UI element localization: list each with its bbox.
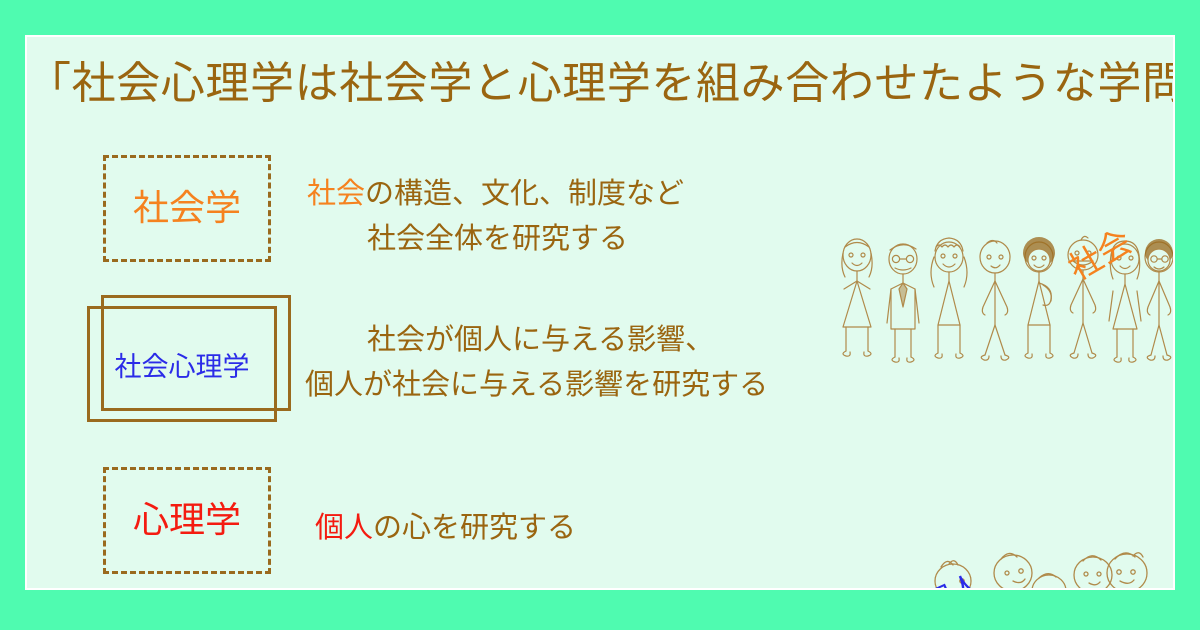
row-social-psychology: 社会心理学 社会が個人に与える影響、 個人が社会に与える影響を研究する [27, 295, 1173, 445]
description-psychology-highlight: 個人 [315, 510, 373, 544]
row-sociology: 社会学 社会の構造、文化、制度など 社会全体を研究する [27, 145, 1173, 295]
infographic-canvas: 「社会心理学は社会学と心理学を組み合わせたような学問」 社会学 社会の構造、文化… [0, 0, 1200, 630]
label-box-sociology: 社会学 [103, 155, 271, 262]
description-sociology-highlight: 社会 [307, 176, 365, 210]
label-social-psychology: 社会心理学 [90, 309, 274, 419]
description-sociology-line-1: 社会の構造、文化、制度など [307, 176, 684, 210]
description-sociology-line-2: 社会全体を研究する [307, 216, 684, 261]
description-sociology: 社会の構造、文化、制度など 社会全体を研究する [307, 171, 684, 261]
label-sociology: 社会学 [133, 191, 241, 227]
label-psychology: 心理学 [133, 503, 241, 539]
label-box-front-rect: 社会心理学 [87, 306, 277, 422]
row-psychology: 心理学 個人の心を研究する [27, 457, 1173, 588]
description-psychology: 個人の心を研究する [315, 505, 576, 550]
description-social-psychology: 社会が個人に与える影響、 個人が社会に与える影響を研究する [305, 317, 768, 407]
page-title: 「社会心理学は社会学と心理学を組み合わせたような学問」 [27, 59, 1173, 108]
description-social-psychology-line-2: 個人が社会に与える影響を研究する [305, 362, 768, 407]
description-psychology-rest: の心を研究する [373, 510, 576, 544]
label-box-psychology: 心理学 [103, 467, 271, 574]
label-box-social-psychology: 社会心理学 [87, 295, 327, 425]
description-social-psychology-line-1: 社会が個人に与える影響、 [305, 317, 768, 362]
description-sociology-rest: の構造、文化、制度など [365, 176, 684, 210]
content-panel: 「社会心理学は社会学と心理学を組み合わせたような学問」 社会学 社会の構造、文化… [27, 37, 1173, 588]
